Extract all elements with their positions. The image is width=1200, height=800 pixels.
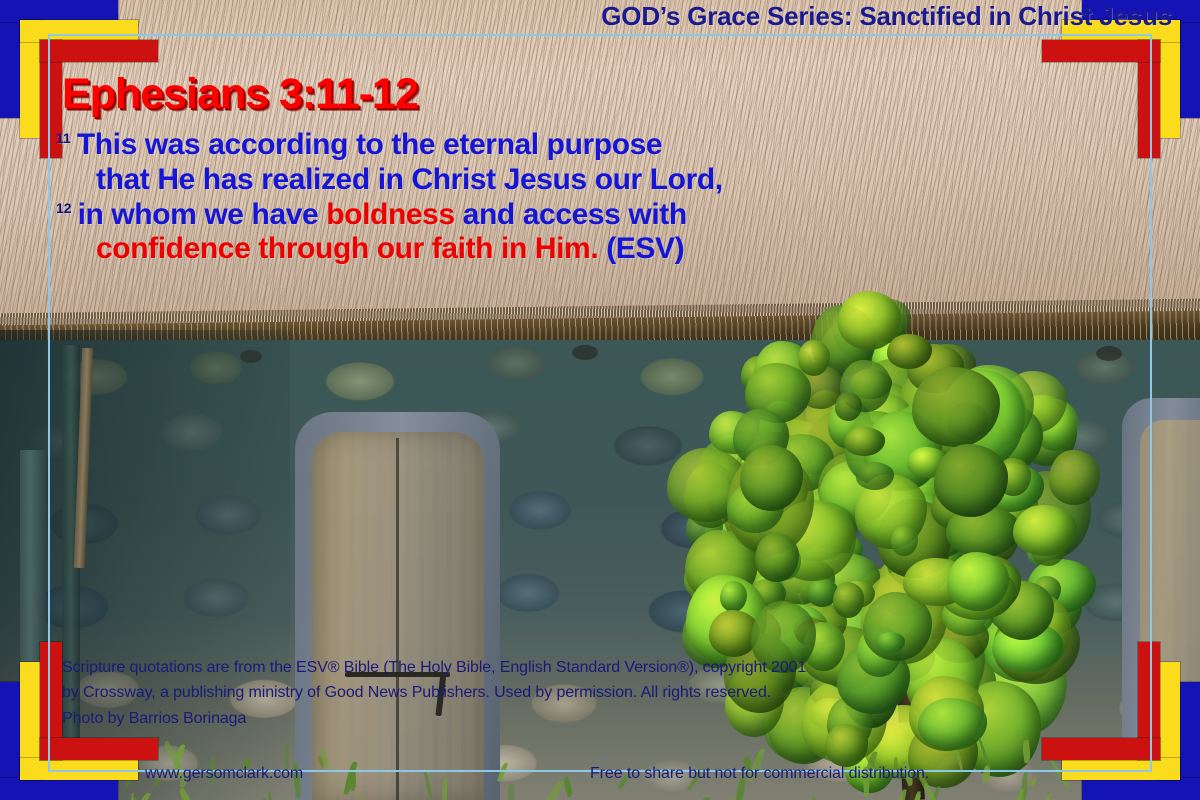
door-seam: [396, 438, 399, 800]
corner-bar-red-horizontal: [40, 738, 158, 760]
verse-highlight-boldness: boldness: [326, 198, 455, 231]
verse-translation-tag: (ESV): [598, 232, 684, 265]
credits-line-1: Scripture quotations are from the ESV® B…: [62, 655, 1142, 680]
corner-bar-red-horizontal: [1042, 738, 1160, 760]
scripture-verse-block: 11This was according to the eternal purp…: [56, 128, 896, 267]
corner-bar-yellow-horizontal: [1062, 758, 1180, 780]
verse-line-2: that He has realized in Christ Jesus our…: [56, 163, 896, 198]
corner-bar-blue-horizontal: [1082, 778, 1200, 800]
wall-recess-1: [572, 345, 598, 360]
verse-line-1-text: This was according to the eternal purpos…: [77, 128, 662, 161]
corner-bar-yellow-horizontal: [20, 758, 138, 780]
scripture-slide: GOD’s Grace Series: Sanctified in Christ…: [0, 0, 1200, 800]
corner-bar-blue-horizontal: [0, 778, 118, 800]
verse-line-3-c: and access with: [455, 198, 687, 231]
credits-line-3: Photo by Barrios Borinaga: [62, 706, 1142, 731]
corner-bar-red-horizontal: [1042, 40, 1160, 62]
verse-line-3-a: in whom we have: [78, 198, 327, 231]
verse-line-1: 11This was according to the eternal purp…: [56, 128, 896, 163]
verse-line-2-text: that He has realized in Christ Jesus our…: [96, 163, 723, 196]
verse-number-11: 11: [56, 130, 71, 146]
corner-bar-red-horizontal: [40, 40, 158, 62]
wall-recess-3: [240, 350, 262, 363]
usage-notice: Free to share but not for commercial dis…: [590, 765, 929, 783]
verse-highlight-confidence: confidence through our faith in Him.: [96, 232, 598, 265]
credits-block: Scripture quotations are from the ESV® B…: [62, 655, 1142, 731]
verse-line-3: 12in whom we have boldness and access wi…: [56, 198, 896, 233]
website-link[interactable]: www.gersomclark.com: [145, 765, 303, 783]
verse-number-12: 12: [56, 200, 72, 216]
credits-line-2: by Crossway, a publishing ministry of Go…: [62, 680, 1142, 705]
verse-line-4: confidence through our faith in Him. (ES…: [56, 232, 896, 267]
series-title: GOD’s Grace Series: Sanctified in Christ…: [0, 1, 1172, 32]
scripture-reference: Ephesians 3:11-12: [62, 70, 418, 119]
